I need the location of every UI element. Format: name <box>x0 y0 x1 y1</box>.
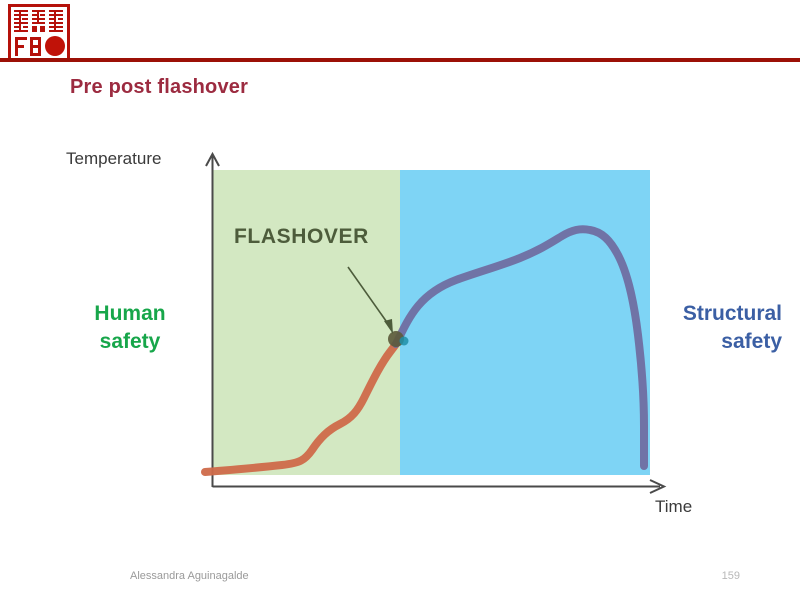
chart-canvas: Temperature Time FLASHOVER Human safety … <box>0 110 800 540</box>
post-flashover-region <box>400 170 650 475</box>
human-safety-line-1: Human <box>94 302 165 325</box>
x-axis <box>213 480 665 493</box>
slide-header <box>0 0 800 62</box>
pre-flashover-region <box>213 170 400 475</box>
flashover-chart: Temperature Time FLASHOVER Human safety … <box>0 110 800 540</box>
header-divider-rule <box>0 58 800 62</box>
flashover-point-highlight <box>400 337 409 346</box>
human-safety-line-2: safety <box>100 330 161 353</box>
footer-page-number: 159 <box>700 570 740 582</box>
red-seal-logo-glyph <box>11 7 67 59</box>
flashover-label: FLASHOVER <box>234 225 369 248</box>
structural-safety-line-2: safety <box>721 330 782 353</box>
slide-footer: Alessandra Aguinagalde 159 <box>0 570 800 600</box>
red-seal-logo-icon <box>8 4 70 62</box>
x-axis-label: Time <box>655 497 692 516</box>
structural-safety-line-1: Structural <box>683 302 782 325</box>
y-axis-label: Temperature <box>66 149 161 168</box>
page-title: Pre post flashover <box>70 76 248 99</box>
footer-author: Alessandra Aguinagalde <box>130 570 249 582</box>
structural-safety-label: Structural safety <box>683 302 783 353</box>
human-safety-label: Human safety <box>94 302 165 353</box>
red-seal-dot-icon <box>45 36 65 56</box>
